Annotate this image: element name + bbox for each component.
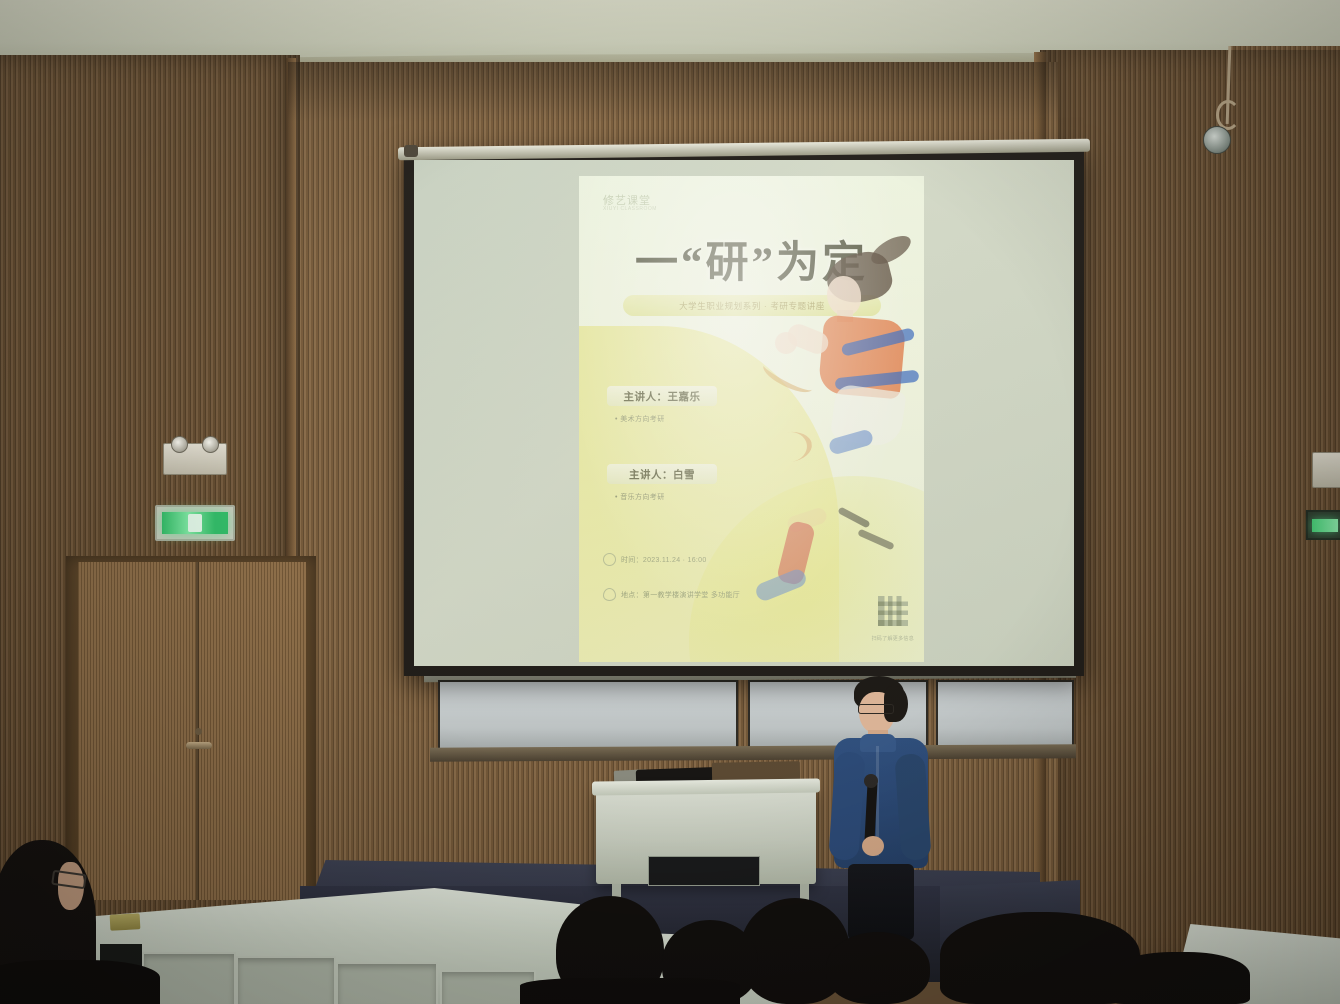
- emergency-lamp-icon: [202, 436, 219, 453]
- running-student-illustration: [749, 236, 924, 656]
- slide-time-text: 时间：2023.11.24 · 16:00: [621, 555, 707, 565]
- presenter-hand: [862, 836, 884, 856]
- qr-caption: 扫码了解更多信息: [872, 635, 914, 642]
- clock-icon: [603, 553, 616, 566]
- audience-head: [1110, 952, 1250, 1004]
- emergency-light: [1312, 452, 1340, 488]
- door-handle[interactable]: [186, 742, 212, 749]
- slide-speaker-1-label: 主讲人：王嘉乐: [607, 386, 717, 406]
- whiteboard-panel: [936, 680, 1074, 750]
- screen-rail-mount: [404, 145, 418, 157]
- audience-shoulders: [520, 978, 740, 1004]
- figure-fist: [775, 332, 797, 354]
- motion-dash: [857, 529, 895, 551]
- audience-shoulders: [0, 960, 160, 1004]
- projection-screen-surface: 修艺课堂 XIUYI CLASSROOM 一“研”为定 大学生职业规划系列 · …: [414, 160, 1074, 666]
- emergency-lamp-icon: [171, 436, 188, 453]
- glasses-icon: [858, 704, 894, 714]
- presenter: [826, 676, 936, 938]
- desk-cubby: [236, 956, 336, 1004]
- desk-cubby: [336, 962, 438, 1004]
- lecture-hall-photo: 修艺课堂 XIUYI CLASSROOM 一“研”为定 大学生职业规划系列 · …: [0, 0, 1340, 1004]
- emergency-light: [163, 443, 227, 475]
- slide-speaker-2-note: • 音乐方向考研: [615, 492, 665, 502]
- presenter-legs: [848, 864, 914, 940]
- wall-shadow: [288, 62, 1058, 122]
- microphone-head: [864, 774, 878, 788]
- exit-sign-icon: [162, 512, 228, 534]
- slide-org-logo-subtitle: XIUYI CLASSROOM: [603, 206, 683, 212]
- motion-swoosh: [760, 356, 816, 399]
- podium-control-panel[interactable]: [648, 856, 760, 886]
- slide-location-text: 地点：第一教学楼演讲学堂 多功能厅: [621, 590, 740, 600]
- slide-location-row: 地点：第一教学楼演讲学堂 多功能厅: [603, 588, 740, 601]
- projected-slide: 修艺课堂 XIUYI CLASSROOM 一“研”为定 大学生职业规划系列 · …: [579, 176, 924, 662]
- exit-sign: [1306, 510, 1340, 540]
- qr-code-icon: [878, 596, 908, 626]
- exit-sign-icon: [1312, 519, 1338, 532]
- whiteboard-group: [430, 676, 1070, 768]
- slide-time-row: 时间：2023.11.24 · 16:00: [603, 553, 707, 566]
- exit-sign: [155, 505, 235, 541]
- audience-head: [826, 932, 930, 1004]
- hanging-sensor-icon: [1203, 126, 1231, 154]
- whiteboard-panel: [438, 680, 738, 750]
- slide-speaker-2-label: 主讲人：白雪: [607, 464, 717, 484]
- door-lock-icon: [195, 728, 202, 735]
- slide-speaker-1-note: • 美术方向考研: [615, 414, 665, 424]
- desk-object: [110, 913, 141, 931]
- whiteboard-ledge: [430, 744, 1076, 761]
- motion-dash: [837, 506, 870, 528]
- double-wooden-door[interactable]: [78, 562, 306, 900]
- motion-swoosh: [765, 429, 814, 465]
- wall-panel-right: [1040, 50, 1340, 970]
- location-pin-icon: [603, 588, 616, 601]
